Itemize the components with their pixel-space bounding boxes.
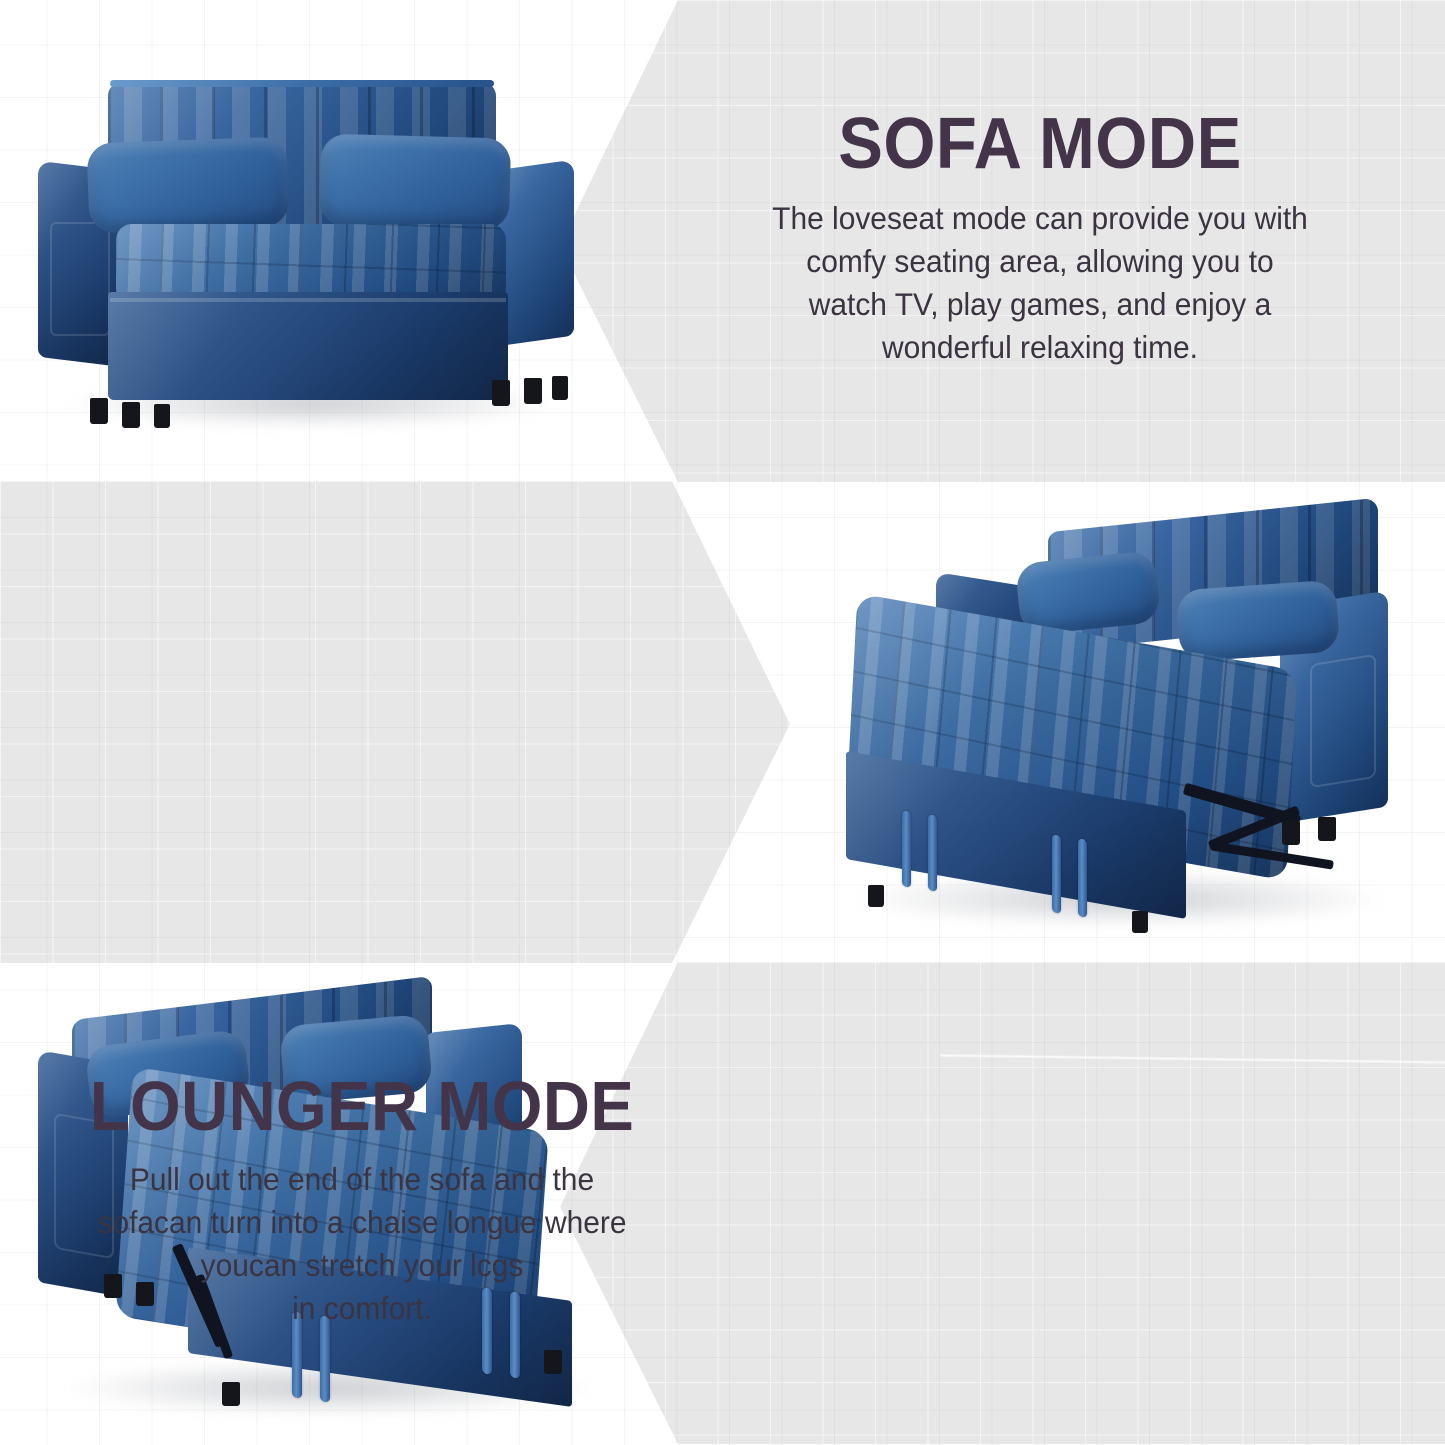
section-sofa-mode: SOFA MODE The loveseat mode can provide … [0,0,1445,482]
lounger-mode-image [810,499,1430,949]
chevron-panel-lounger [0,481,790,963]
section-lounger-mode: LOUNGER MODE Pull out the end of the sof… [0,481,1445,963]
lounger-mode-text-block: LOUNGER MODE Pull out the end of the sof… [12,1071,712,1330]
sofa-mode-title: SOFA MODE [715,108,1366,181]
sofa-mode-image [30,62,590,432]
product-infographic: SOFA MODE The loveseat mode can provide … [0,0,1445,1445]
lounger-mode-title: LOUNGER MODE [37,1071,688,1142]
panel-grid-texture [0,481,790,963]
sofa-mode-body: The loveseat mode can provide you with c… [708,197,1373,368]
lounger-mode-body: Pull out the end of the sofa and the sof… [30,1158,695,1329]
sofa-mode-text-block: SOFA MODE The loveseat mode can provide … [690,108,1390,369]
